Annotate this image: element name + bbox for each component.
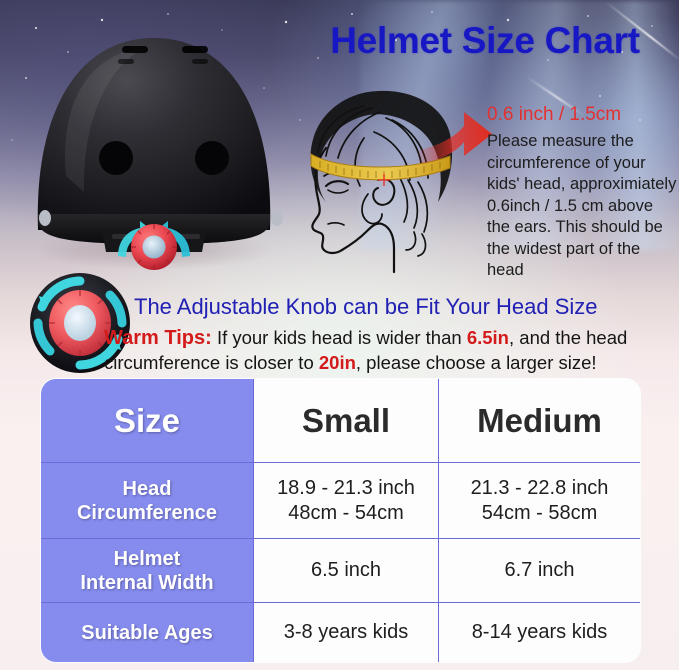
table-header-row: Size Small Medium bbox=[41, 379, 641, 463]
adjustable-knob-headline: The Adjustable Knob can be Fit Your Head… bbox=[134, 294, 598, 320]
row-label-helmet-internal-width: Helmet Internal Width bbox=[41, 539, 254, 603]
row-label-suitable-ages: Suitable Ages bbox=[41, 603, 254, 663]
table-row: Helmet Internal Width 6.5 inch 6.7 inch bbox=[41, 539, 641, 603]
cell-internal-width-medium: 6.7 inch bbox=[439, 539, 641, 603]
row-label-line-2: Internal Width bbox=[41, 571, 253, 595]
cell-suitable-ages-medium: 8-14 years kids bbox=[439, 603, 641, 663]
row-label-line-1: Helmet bbox=[41, 547, 253, 571]
size-chart-table: Size Small Medium Head Circumference 18.… bbox=[40, 378, 641, 663]
cell-line-1: 18.9 - 21.3 inch bbox=[254, 476, 438, 501]
measurement-callout-label: 0.6 inch / 1.5cm bbox=[487, 104, 621, 126]
header-column-small: Small bbox=[254, 379, 439, 463]
head-profile-measuring-diagram bbox=[268, 82, 498, 277]
cell-head-circumference-medium: 21.3 - 22.8 inch 54cm - 58cm bbox=[439, 463, 641, 539]
row-label-line-2: Circumference bbox=[41, 501, 253, 525]
cell-suitable-ages-small: 3-8 years kids bbox=[254, 603, 439, 663]
warm-tips-text-3: circumference is closer to bbox=[104, 352, 314, 373]
warm-tips-line-1: Warm Tips: If your kids head is wider th… bbox=[104, 327, 627, 350]
row-label-line-1: Head bbox=[41, 477, 253, 501]
warm-tips-text-1: If your kids head is wider than bbox=[217, 327, 462, 348]
cell-head-circumference-small: 18.9 - 21.3 inch 48cm - 54cm bbox=[254, 463, 439, 539]
cell-line-2: 48cm - 54cm bbox=[254, 501, 438, 526]
cell-internal-width-small: 6.5 inch bbox=[254, 539, 439, 603]
header-column-medium: Medium bbox=[439, 379, 641, 463]
warm-tips-text-2: , and the head bbox=[509, 327, 627, 348]
warm-tips-text-4: , please choose a larger size! bbox=[356, 352, 597, 373]
warm-tips-label: Warm Tips: bbox=[104, 327, 212, 349]
header-size-label: Size bbox=[41, 379, 254, 463]
warm-tips-value-2: 20in bbox=[319, 352, 356, 373]
cell-line-1: 21.3 - 22.8 inch bbox=[439, 476, 640, 501]
cell-line-2: 54cm - 58cm bbox=[439, 501, 640, 526]
page-title: Helmet Size Chart bbox=[300, 20, 670, 62]
warm-tips-value-1: 6.5in bbox=[467, 327, 509, 348]
helmet-product-photo bbox=[6, 16, 296, 276]
table-row: Head Circumference 18.9 - 21.3 inch 48cm… bbox=[41, 463, 641, 539]
warm-tips-line-2: circumference is closer to 20in, please … bbox=[104, 352, 597, 374]
row-label-head-circumference: Head Circumference bbox=[41, 463, 254, 539]
table-row: Suitable Ages 3-8 years kids 8-14 years … bbox=[41, 603, 641, 663]
measurement-instruction-text: Please measure the circumference of your… bbox=[487, 131, 677, 282]
